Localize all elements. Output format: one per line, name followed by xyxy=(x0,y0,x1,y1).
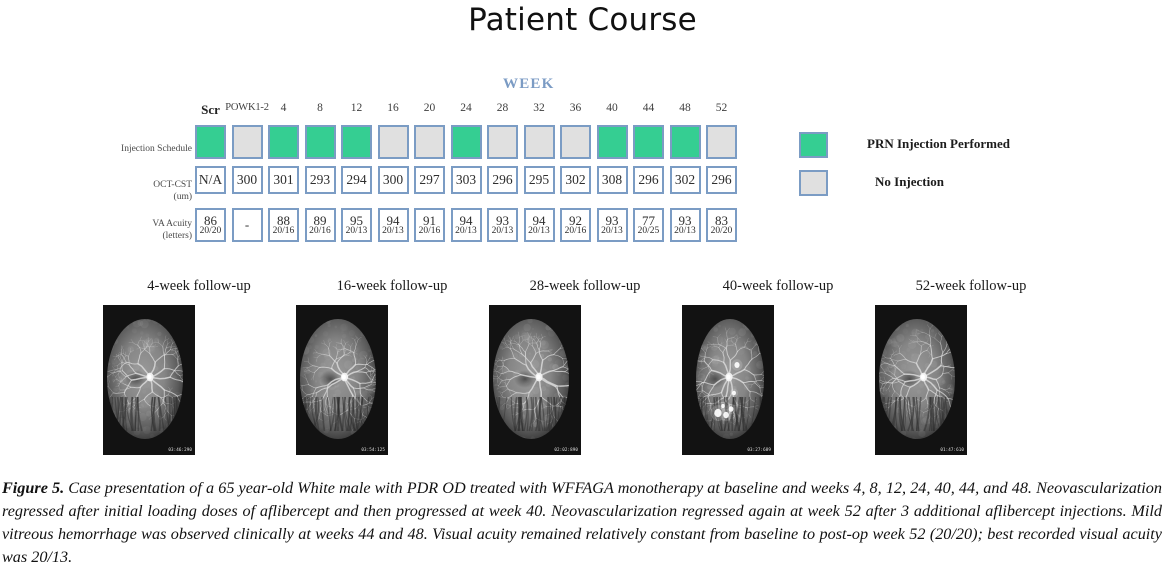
va-acuity-cell-powk1-2: - xyxy=(232,208,263,242)
week-header-32: 32 xyxy=(524,102,555,114)
oct-cst-cell-52: 296 xyxy=(706,166,737,194)
week-axis-label: WEEK xyxy=(503,76,554,93)
fundus-angiogram-image: 03:46:290 xyxy=(103,305,195,455)
followup-caption: 52-week follow-up xyxy=(881,278,1061,295)
va-letters-value: 94 xyxy=(533,214,546,227)
injection-cell-16 xyxy=(378,125,409,159)
legend-swatch-gray xyxy=(799,170,828,196)
week-header-4: 4 xyxy=(268,102,299,114)
oct-cst-cell-32: 295 xyxy=(524,166,555,194)
va-acuity-cell-28: 9320/13 xyxy=(487,208,518,242)
figure-caption-lead: Figure 5. xyxy=(2,479,64,497)
injection-cell-48 xyxy=(670,125,701,159)
followup-caption: 40-week follow-up xyxy=(688,278,868,295)
row-label-oct-line1: OCT-CST xyxy=(153,180,192,190)
row-label-va-line2: (letters) xyxy=(162,231,192,241)
va-snellen-value: 20/16 xyxy=(565,227,587,237)
oct-cst-cell-28: 296 xyxy=(487,166,518,194)
va-letters-value: 77 xyxy=(642,214,655,227)
va-letters-value: 89 xyxy=(314,214,327,227)
angiogram-timestamp: 01:47:610 xyxy=(940,447,964,452)
va-acuity-cell-24: 9420/13 xyxy=(451,208,482,242)
injection-cell-8 xyxy=(305,125,336,159)
week-header-40: 40 xyxy=(597,102,628,114)
oct-cst-cell-12: 294 xyxy=(341,166,372,194)
week-header-44: 44 xyxy=(633,102,664,114)
va-acuity-cell-4: 8820/16 xyxy=(268,208,299,242)
va-letters-value: 93 xyxy=(606,214,619,227)
week-header-24: 24 xyxy=(451,102,482,114)
injection-cell-52 xyxy=(706,125,737,159)
oct-cst-cell-16: 300 xyxy=(378,166,409,194)
va-acuity-cell-12: 9520/13 xyxy=(341,208,372,242)
va-letters-value: 91 xyxy=(423,214,436,227)
va-letters-value: 93 xyxy=(496,214,509,227)
injection-cell-32 xyxy=(524,125,555,159)
va-acuity-cell-44: 7720/25 xyxy=(633,208,664,242)
oct-cst-cell-44: 296 xyxy=(633,166,664,194)
va-letters-value: 94 xyxy=(460,214,473,227)
va-snellen-value: 20/20 xyxy=(200,227,222,237)
page-title: Patient Course xyxy=(0,2,1165,38)
legend-label: PRN Injection Performed xyxy=(867,136,1010,152)
va-letters-value: 95 xyxy=(350,214,363,227)
va-snellen-value: 20/13 xyxy=(346,227,368,237)
week-header-52: 52 xyxy=(706,102,737,114)
va-snellen-value: 20/13 xyxy=(528,227,550,237)
va-snellen-value: 20/16 xyxy=(419,227,441,237)
legend-swatch-green xyxy=(799,132,828,158)
va-snellen-value: 20/13 xyxy=(601,227,623,237)
va-snellen-value: 20/16 xyxy=(309,227,331,237)
va-snellen-value: 20/13 xyxy=(455,227,477,237)
va-snellen-value: 20/16 xyxy=(273,227,295,237)
row-label-va-line1: VA Acuity xyxy=(152,219,192,229)
oct-cst-cell-4: 301 xyxy=(268,166,299,194)
va-acuity-cell-16: 9420/13 xyxy=(378,208,409,242)
week-header-28: 28 xyxy=(487,102,518,114)
va-snellen-value: 20/25 xyxy=(638,227,660,237)
va-acuity-cell-40: 9320/13 xyxy=(597,208,628,242)
week-header-8: 8 xyxy=(305,102,336,114)
oct-cst-cell-40: 308 xyxy=(597,166,628,194)
injection-cell-28 xyxy=(487,125,518,159)
angiogram-timestamp: 03:54:125 xyxy=(361,447,385,452)
va-letters-value: - xyxy=(245,218,249,231)
row-label-va-acuity: VA Acuity (letters) xyxy=(112,219,192,242)
week-header-36: 36 xyxy=(560,102,591,114)
oct-cst-cell-48: 302 xyxy=(670,166,701,194)
week-header-scr: Scr xyxy=(195,102,226,118)
week-header-48: 48 xyxy=(670,102,701,114)
week-header-16: 16 xyxy=(378,102,409,114)
figure-caption-body: Case presentation of a 65 year-old White… xyxy=(2,479,1162,566)
week-header-20: 20 xyxy=(414,102,445,114)
injection-cell-36 xyxy=(560,125,591,159)
injection-cell-scr xyxy=(195,125,226,159)
va-acuity-cell-20: 9120/16 xyxy=(414,208,445,242)
row-label-oct-line2: (um) xyxy=(174,192,192,202)
va-snellen-value: 20/13 xyxy=(674,227,696,237)
va-acuity-cell-36: 9220/16 xyxy=(560,208,591,242)
va-letters-value: 94 xyxy=(387,214,400,227)
injection-cell-20 xyxy=(414,125,445,159)
va-letters-value: 86 xyxy=(204,214,217,227)
week-header-12: 12 xyxy=(341,102,372,114)
oct-cst-cell-scr: N/A xyxy=(195,166,226,194)
figure-caption: Figure 5. Case presentation of a 65 year… xyxy=(2,477,1162,569)
va-letters-value: 92 xyxy=(569,214,582,227)
followup-caption: 16-week follow-up xyxy=(302,278,482,295)
angiogram-timestamp: 03:27:689 xyxy=(747,447,771,452)
followup-caption: 28-week follow-up xyxy=(495,278,675,295)
injection-cell-44 xyxy=(633,125,664,159)
va-acuity-cell-32: 9420/13 xyxy=(524,208,555,242)
injection-cell-4 xyxy=(268,125,299,159)
fundus-angiogram-image: 01:47:610 xyxy=(875,305,967,455)
angiogram-timestamp: 03:46:290 xyxy=(168,447,192,452)
va-letters-value: 88 xyxy=(277,214,290,227)
injection-cell-12 xyxy=(341,125,372,159)
va-acuity-cell-scr: 8620/20 xyxy=(195,208,226,242)
va-snellen-value: 20/13 xyxy=(492,227,514,237)
row-label-oct-cst: OCT-CST (um) xyxy=(112,180,192,203)
va-snellen-value: 20/20 xyxy=(711,227,733,237)
figure-root: Patient Course WEEK Injection Schedule O… xyxy=(0,0,1165,584)
injection-cell-40 xyxy=(597,125,628,159)
va-letters-value: 83 xyxy=(715,214,728,227)
fundus-angiogram-image: 03:27:689 xyxy=(682,305,774,455)
injection-cell-24 xyxy=(451,125,482,159)
oct-cst-cell-20: 297 xyxy=(414,166,445,194)
va-snellen-value: 20/13 xyxy=(382,227,404,237)
oct-cst-cell-36: 302 xyxy=(560,166,591,194)
angiogram-timestamp: 02:02:890 xyxy=(554,447,578,452)
row-label-injection: Injection Schedule xyxy=(112,144,192,156)
va-acuity-cell-8: 8920/16 xyxy=(305,208,336,242)
oct-cst-cell-24: 303 xyxy=(451,166,482,194)
va-letters-value: 93 xyxy=(679,214,692,227)
legend-label: No Injection xyxy=(875,174,944,190)
oct-cst-cell-powk1-2: 300 xyxy=(232,166,263,194)
fundus-angiogram-image: 03:54:125 xyxy=(296,305,388,455)
oct-cst-cell-8: 293 xyxy=(305,166,336,194)
week-header-powk1-2: POWK1-2 xyxy=(225,102,270,113)
injection-cell-powk1-2 xyxy=(232,125,263,159)
va-acuity-cell-52: 8320/20 xyxy=(706,208,737,242)
va-acuity-cell-48: 9320/13 xyxy=(670,208,701,242)
followup-caption: 4-week follow-up xyxy=(109,278,289,295)
fundus-angiogram-image: 02:02:890 xyxy=(489,305,581,455)
